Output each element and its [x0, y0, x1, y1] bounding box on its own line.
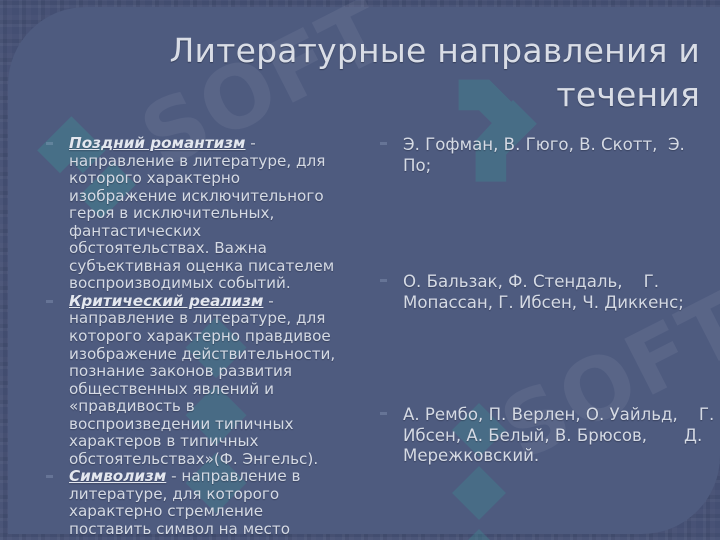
bullet-dash-icon	[46, 475, 53, 478]
list-item[interactable]: А. Рембо, П. Верлен, О. Уайльд, Г. Ибсен…	[380, 405, 718, 467]
term-label: Поздний романтизм	[69, 134, 245, 152]
bullet-dash-icon	[380, 142, 387, 145]
list-item[interactable]: Критический реализм - направление в лите…	[46, 293, 338, 468]
list-item[interactable]: Э. Гофман, В. Гюго, В. Скотт, Э. По;	[380, 135, 718, 176]
presentation-slide: SOFT SOFT	[0, 0, 720, 540]
bullet-dash-icon	[380, 279, 387, 282]
term-label: Символизм	[69, 467, 166, 485]
page-title: Литературные направления и течения	[138, 29, 700, 116]
list-item[interactable]: Поздний романтизм - направление в литера…	[46, 135, 338, 293]
slide-content-panel: SOFT SOFT	[8, 7, 720, 534]
term-label: Критический реализм	[69, 292, 263, 310]
column-spacer	[380, 176, 718, 272]
right-column: Э. Гофман, В. Гюго, В. Скотт, Э. По; О. …	[380, 135, 718, 467]
list-item-text: О. Бальзак, Ф. Стендаль, Г. Мопассан, Г.…	[403, 272, 718, 313]
bullet-dash-icon	[380, 412, 387, 415]
term-definition: - направление в литературе, для которого…	[69, 134, 339, 292]
list-item[interactable]: Символизм - направление в литературе, дл…	[46, 468, 338, 540]
left-column: Поздний романтизм - направление в литера…	[46, 135, 338, 540]
slide-body: Поздний романтизм - направление в литера…	[8, 135, 720, 535]
bullet-dash-icon	[46, 300, 53, 303]
list-item-text: Символизм - направление в литературе, дл…	[69, 468, 338, 540]
column-spacer	[380, 313, 718, 405]
list-item-text: Критический реализм - направление в лите…	[69, 293, 338, 468]
list-item-text: Поздний романтизм - направление в литера…	[69, 135, 338, 293]
term-definition: - направление в литературе, для которого…	[69, 292, 340, 468]
list-item-text: А. Рембо, П. Верлен, О. Уайльд, Г. Ибсен…	[403, 405, 718, 467]
bullet-dash-icon	[46, 142, 53, 145]
list-item[interactable]: О. Бальзак, Ф. Стендаль, Г. Мопассан, Г.…	[380, 272, 718, 313]
list-item-text: Э. Гофман, В. Гюго, В. Скотт, Э. По;	[403, 135, 718, 176]
